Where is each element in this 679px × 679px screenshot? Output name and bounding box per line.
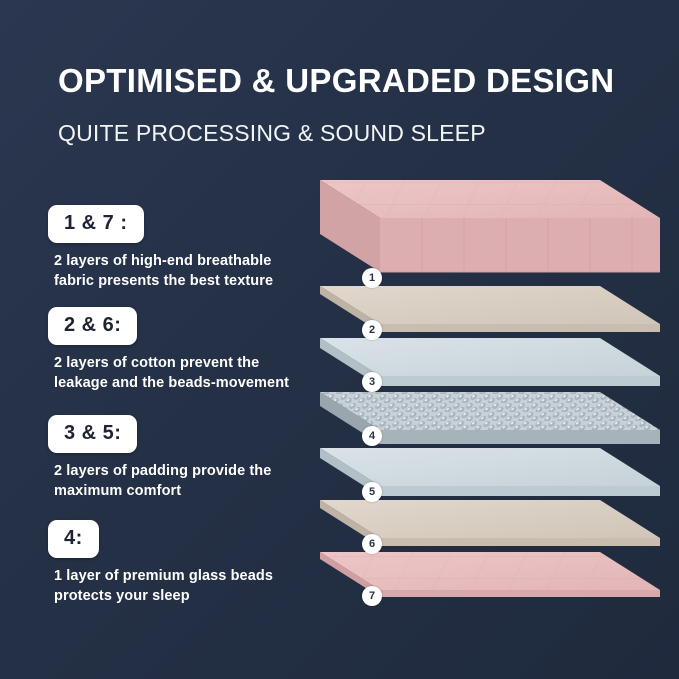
layer-stack-svg: [300, 160, 670, 630]
annotation-block-2: 2 & 6: 2 layers of cotton prevent the le…: [48, 307, 298, 393]
annotation-chip-4: 4:: [48, 520, 99, 558]
layer-badge-7: 7: [362, 586, 382, 606]
annotation-text-2: 2 layers of cotton prevent the leakage a…: [54, 354, 298, 393]
layer-1: [320, 180, 660, 272]
layer-badge-5: 5: [362, 482, 382, 502]
annotation-chip-2: 2 & 6:: [48, 307, 137, 345]
annotation-chip-3: 3 & 5:: [48, 415, 137, 453]
annotation-text-4: 1 layer of premium glass beads protects …: [54, 567, 298, 606]
annotation-text-1: 2 layers of high-end breathable fabric p…: [54, 252, 298, 291]
layer-badge-3: 3: [362, 372, 382, 392]
layer-badge-6: 6: [362, 534, 382, 554]
annotation-chip-1: 1 & 7 :: [48, 205, 144, 243]
layer-badge-4: 4: [362, 426, 382, 446]
annotation-block-4: 4: 1 layer of premium glass beads protec…: [48, 520, 298, 606]
page-title: OPTIMISED & UPGRADED DESIGN: [58, 62, 614, 100]
page-subtitle: QUITE PROCESSING & SOUND SLEEP: [58, 120, 486, 147]
annotation-block-1: 1 & 7 : 2 layers of high-end breathable …: [48, 205, 298, 291]
layer-stack-diagram: 1 2 3 4 5 6 7: [300, 160, 670, 620]
infographic-root: OPTIMISED & UPGRADED DESIGN QUITE PROCES…: [0, 0, 679, 679]
annotation-text-3: 2 layers of padding provide the maximum …: [54, 462, 298, 501]
annotation-block-3: 3 & 5: 2 layers of padding provide the m…: [48, 415, 298, 501]
layer-badge-1: 1: [362, 268, 382, 288]
layer-badge-2: 2: [362, 320, 382, 340]
